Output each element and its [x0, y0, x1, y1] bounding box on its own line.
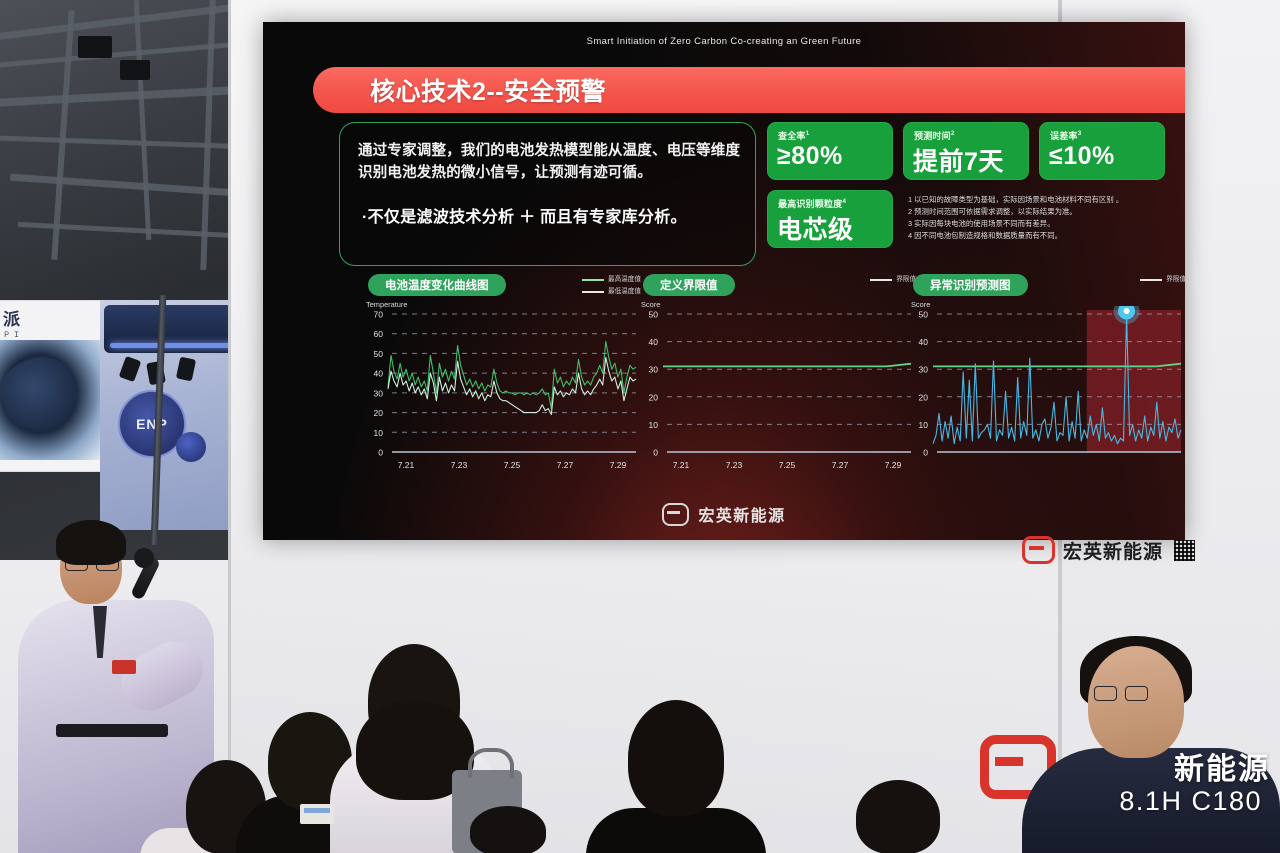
metric-card-error: 误差率3 ≤10% [1039, 122, 1165, 180]
svg-text:7.29: 7.29 [610, 460, 627, 470]
booth-product-image [0, 340, 102, 460]
chart-plot-area: 010203040507.217.237.257.277.29 [633, 306, 918, 476]
overlay-caption: 新能源 [1174, 744, 1270, 788]
speaker-hair [56, 520, 126, 565]
slide-eyebrow: Smart Initiation of Zero Carbon Co-creat… [263, 36, 1185, 47]
footnote-item: 2 预测时间范围可依据需求调整，以实际结果为准。 [908, 206, 1173, 218]
presentation-slide: Smart Initiation of Zero Carbon Co-creat… [263, 22, 1185, 540]
metric-value: 提前7天 [913, 142, 1004, 178]
chart-plot-area: 01020304050 [903, 306, 1185, 476]
metric-value: ≤10% [1049, 142, 1115, 171]
chart-title: 定义界限值 [643, 274, 735, 296]
footnote-item: 1 以已知的故障类型为基础，实际因场景和电池材料不同有区别 。 [908, 194, 1173, 206]
svg-text:7.27: 7.27 [557, 460, 574, 470]
hongying-logo-icon [1022, 536, 1055, 564]
svg-text:0: 0 [923, 448, 928, 458]
svg-text:7.29: 7.29 [885, 460, 902, 470]
svg-text:30: 30 [919, 365, 929, 375]
legend-label: 界限值 [1166, 274, 1185, 286]
svg-text:10: 10 [919, 420, 929, 430]
svg-text:7.23: 7.23 [451, 460, 468, 470]
chart-plot-area: 0102030405060707.217.237.257.277.29 [358, 306, 643, 476]
screenshot-root: 派 ＰＩ ENP Smart Initiation of Zero Carbon… [0, 0, 1280, 853]
description-paragraph-1: 通过专家调整，我们的电池发热模型能从温度、电压等维度识别电池发热的微小信号，让预… [358, 140, 743, 185]
chart-title: 电池温度变化曲线图 [368, 274, 506, 296]
name-badge [300, 804, 334, 824]
page-title: 核心技术2--安全预警 [370, 72, 606, 108]
footnotes: 1 以已知的故障类型为基础，实际因场景和电池材料不同有区别 。 2 预测时间范围… [908, 194, 1173, 242]
slide-logo-text: 宏英新能源 [698, 502, 785, 526]
chart-title: 异常识别预测图 [913, 274, 1028, 296]
svg-text:7.25: 7.25 [779, 460, 796, 470]
booth-decor-circle [176, 432, 206, 462]
audience-head [856, 780, 940, 853]
svg-text:60: 60 [374, 329, 384, 339]
svg-text:10: 10 [649, 420, 659, 430]
svg-text:7.25: 7.25 [504, 460, 521, 470]
metric-label: 最高识别颗粒度4 [778, 197, 846, 210]
audience-head [1088, 646, 1184, 758]
svg-text:40: 40 [649, 337, 659, 347]
svg-text:50: 50 [649, 310, 659, 320]
chart-threshold-definition: 定义界限值 界限值 Score 010203040507.217.237.257… [633, 270, 918, 480]
svg-text:50: 50 [919, 310, 929, 320]
footnote-item: 3 实际因每块电池的使用场景不同而有差异。 [908, 218, 1173, 230]
svg-text:10: 10 [374, 428, 384, 438]
svg-text:20: 20 [919, 392, 929, 402]
overlay-booth-code: 8.1H C180 [1119, 786, 1262, 817]
metric-label: 查全率1 [778, 129, 809, 142]
speaker-belt [56, 724, 168, 737]
footnote-item: 4 因不同电池包制造规格和数据质量而有不同。 [908, 230, 1173, 242]
legend-swatch [870, 279, 892, 281]
microphone-head-icon [134, 548, 154, 568]
metric-label: 误差率3 [1050, 129, 1081, 142]
svg-text:0: 0 [653, 448, 658, 458]
legend-swatch [1140, 279, 1162, 281]
metric-label: 预测时间2 [914, 129, 955, 142]
svg-text:40: 40 [374, 369, 384, 379]
svg-text:30: 30 [374, 388, 384, 398]
svg-text:7.27: 7.27 [832, 460, 849, 470]
hongying-logo-icon [662, 503, 689, 526]
glasses-icon [1094, 686, 1148, 699]
slide-footer-logo: 宏英新能源 [263, 502, 1185, 526]
slide-title-band: 核心技术2--安全预警 [313, 67, 1185, 113]
booth-left-brand-sub: ＰＩ [3, 330, 23, 340]
enp-logo-text: ENP [136, 416, 168, 432]
booth-left-brand: 派 [3, 310, 19, 329]
svg-text:7.21: 7.21 [398, 460, 415, 470]
legend-swatch [582, 279, 604, 281]
chart-battery-temperature: 电池温度变化曲线图 最高温度值 最低温度值 Temperature 010203… [358, 270, 643, 480]
metric-card-recall: 查全率1 ≥80% [767, 122, 893, 180]
svg-text:20: 20 [649, 392, 659, 402]
chart-legend: 界限值 [1140, 274, 1185, 286]
qr-code-icon [1174, 540, 1195, 561]
svg-text:0: 0 [378, 448, 383, 458]
svg-text:20: 20 [374, 408, 384, 418]
speaker-badge [112, 660, 136, 674]
wall-edge [228, 0, 231, 853]
chart-anomaly-prediction: 异常识别预测图 界限值 Score 01020304050 [903, 270, 1185, 480]
description-box: 通过专家调整，我们的电池发热模型能从温度、电压等维度识别电池发热的微小信号，让预… [339, 122, 756, 266]
svg-text:7.23: 7.23 [726, 460, 743, 470]
metric-value: 电芯级 [777, 210, 854, 246]
svg-text:70: 70 [374, 310, 384, 320]
description-paragraph-2: ·不仅是滤波技术分析 ＋ 而且有专家库分析。 [362, 203, 745, 227]
svg-text:30: 30 [649, 365, 659, 375]
audience-head [470, 806, 546, 853]
svg-text:50: 50 [374, 349, 384, 359]
wall-logo-text: 宏英新能源 [1063, 537, 1163, 564]
metric-value: ≥80% [777, 142, 843, 171]
legend-swatch [582, 291, 604, 293]
svg-text:40: 40 [919, 337, 929, 347]
metric-card-leadtime: 预测时间2 提前7天 [903, 122, 1029, 180]
metric-card-granularity: 最高识别颗粒度4 电芯级 [767, 190, 893, 248]
wall-brand-logo: 宏英新能源 [1022, 536, 1195, 564]
audience-head [628, 700, 724, 816]
svg-text:7.21: 7.21 [673, 460, 690, 470]
